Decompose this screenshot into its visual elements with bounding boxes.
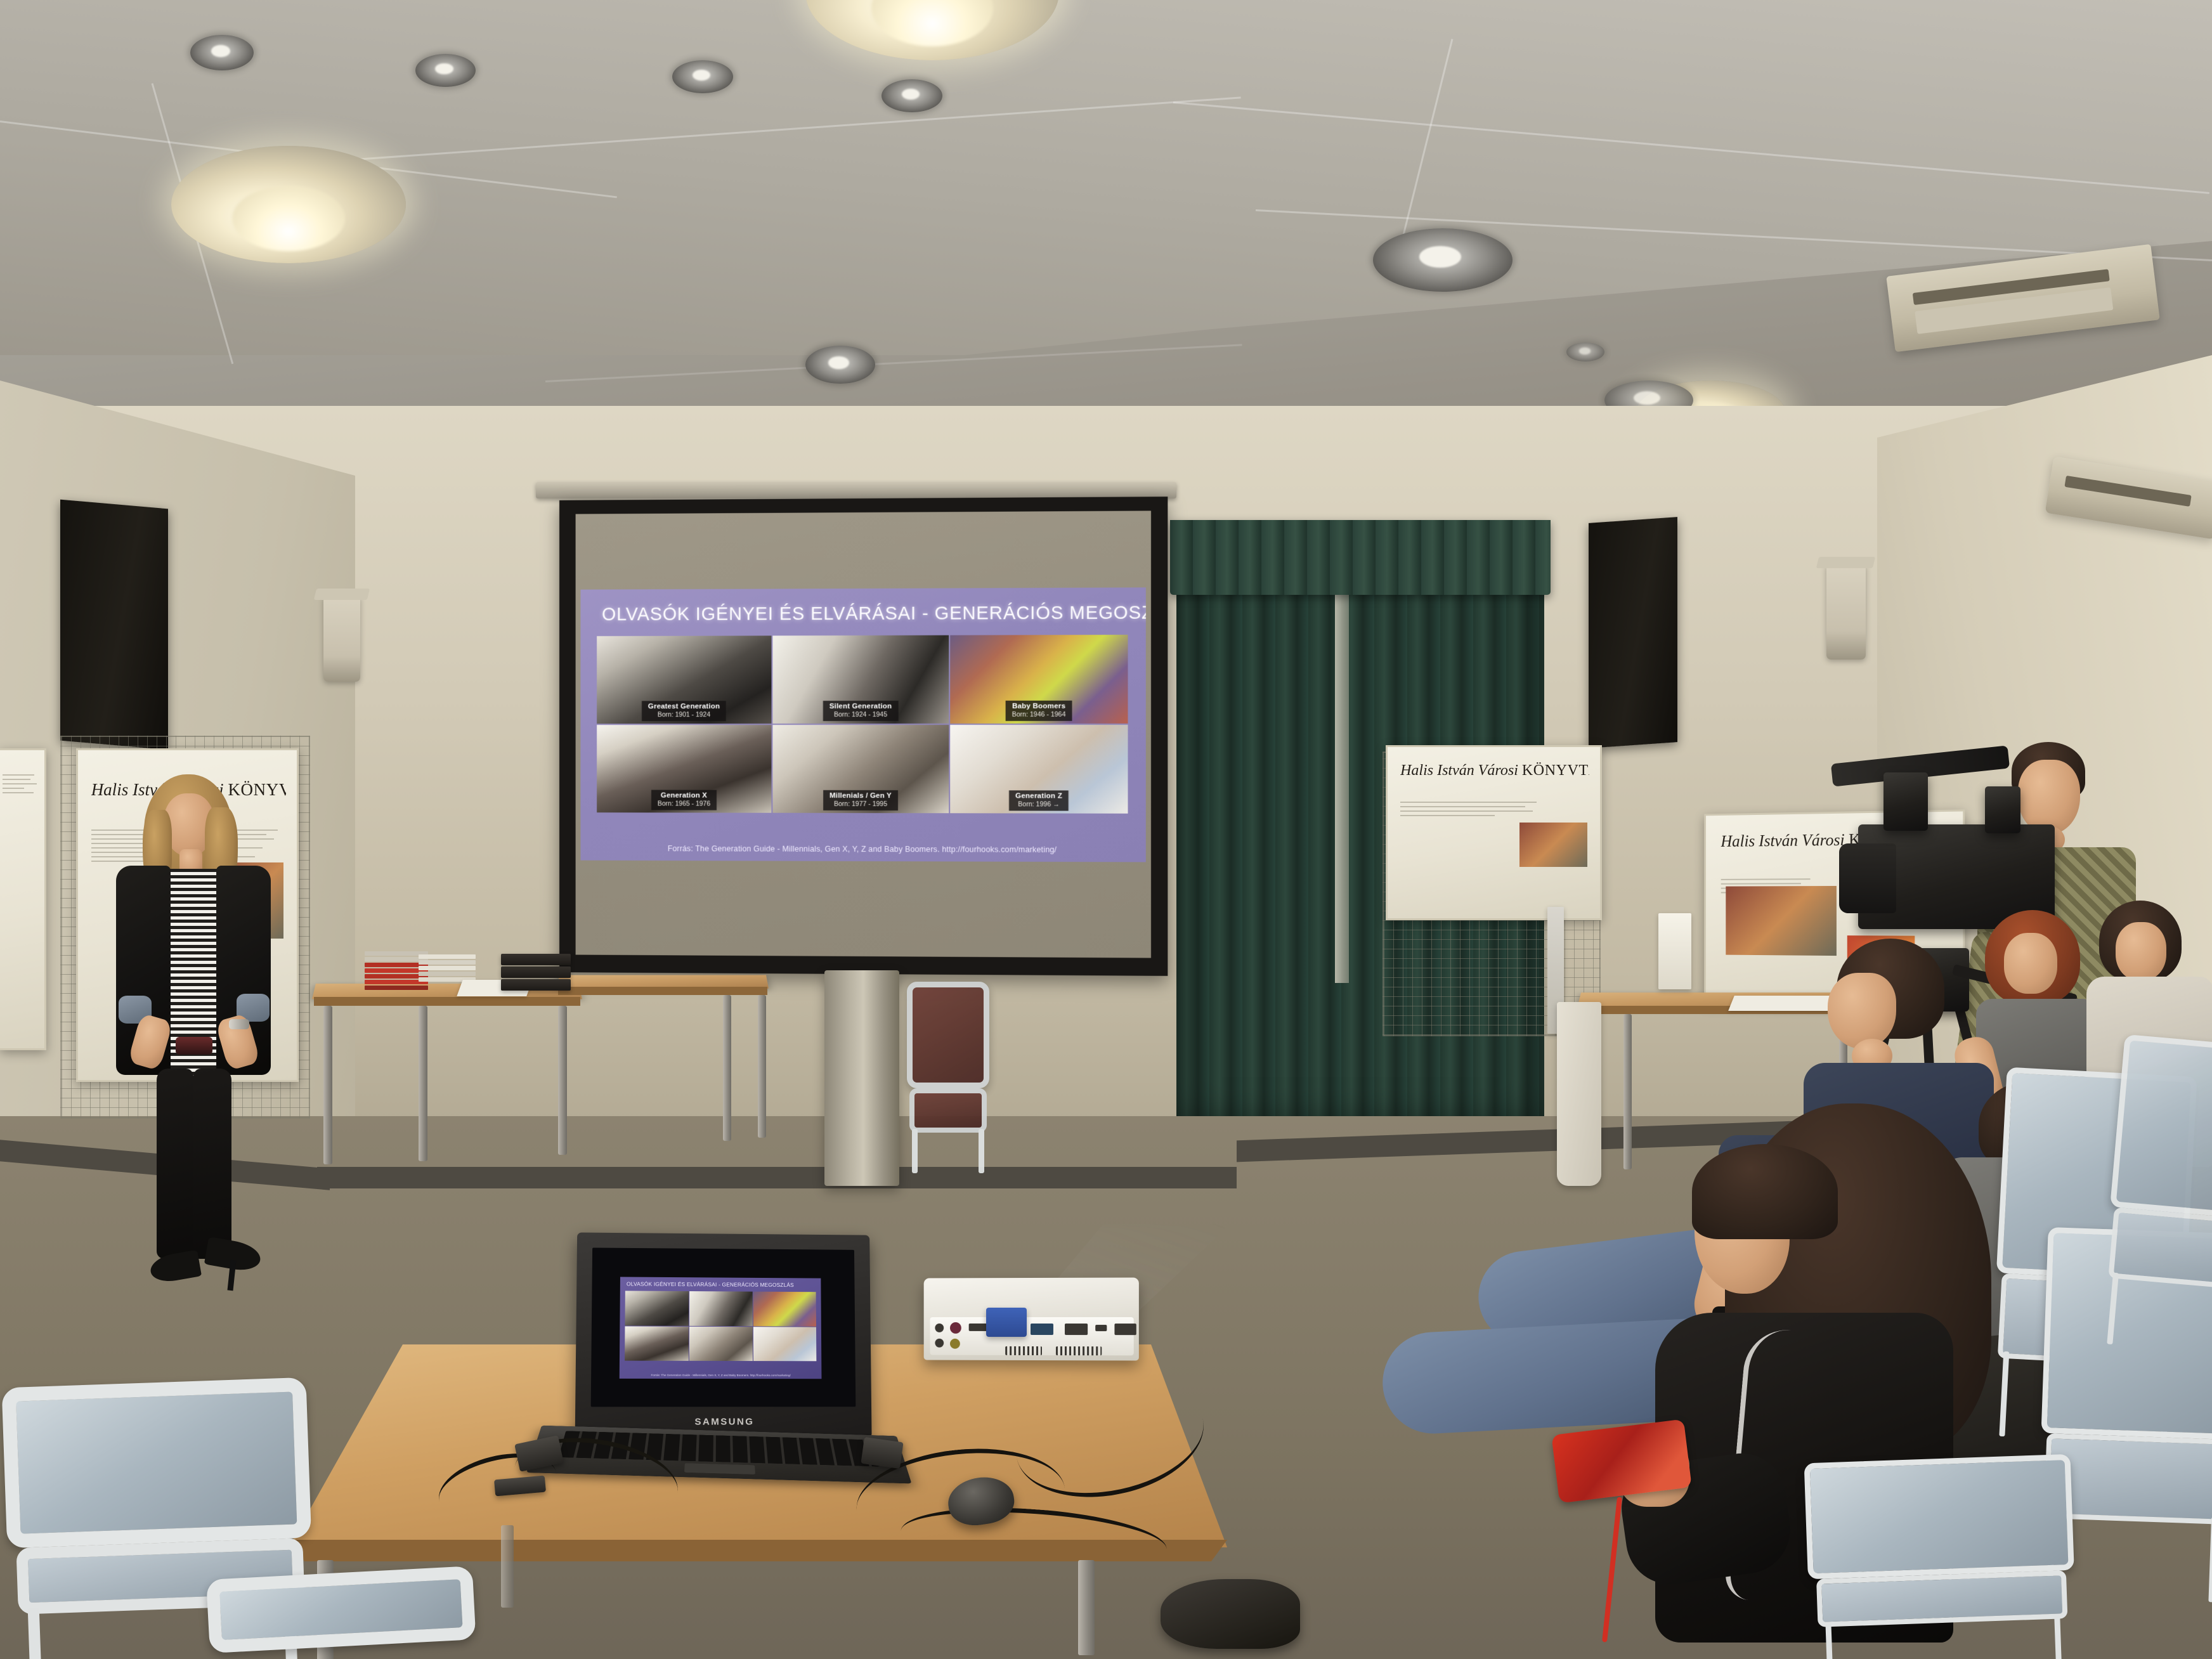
generation-name: Greatest Generation — [648, 703, 720, 710]
ceiling-spotlight — [805, 346, 875, 384]
presenter-woman — [105, 771, 282, 1313]
generation-born: Born: 1901 - 1924 — [648, 711, 720, 719]
laptop-lid: OLVASÓK IGÉNYEI ÉS ELVÁRÁSAI - GENERÁCIÓ… — [575, 1232, 872, 1436]
presenter-wristwatch — [229, 1019, 249, 1029]
vga-cable-plug[interactable] — [986, 1308, 1027, 1337]
curtain-gap — [1335, 590, 1349, 983]
operator-face — [2018, 760, 2080, 835]
table-leg — [558, 1006, 567, 1155]
poster-right-title-italic: Halis István Városi — [1721, 831, 1844, 850]
curtain-valance — [1170, 520, 1551, 595]
poster-back-title-caps: KÖNYVTÁR — [1522, 762, 1589, 779]
stacked-chair[interactable] — [907, 982, 989, 1166]
generation-label: Generation X Born: 1965 - 1976 — [651, 790, 717, 810]
table-leg — [1078, 1560, 1095, 1655]
camera-lens — [1839, 843, 1896, 913]
leaflet-stand — [1658, 913, 1691, 989]
poster-far-left-edge — [0, 748, 46, 1050]
generation-name: Baby Boomers — [1012, 703, 1066, 710]
audience-face — [1828, 973, 1896, 1049]
generation-born: Born: 1924 - 1945 — [829, 711, 892, 719]
laptop-slide-source: Forrás: The Generation Guide - Millennia… — [620, 1374, 822, 1377]
wall-sconce-left — [323, 596, 360, 682]
generation-cell: Millenials / Gen Y Born: 1977 - 1995 — [772, 725, 949, 813]
phone-lanyard-cord — [1602, 1497, 1622, 1643]
ceiling-spotlight — [415, 54, 476, 87]
presenter-trouser-left — [157, 1069, 193, 1259]
table-leg — [501, 1525, 514, 1608]
laptop-brand-logo: SAMSUNG — [575, 1416, 872, 1428]
ceiling-spotlight — [672, 60, 733, 93]
audience-hair-front — [1692, 1144, 1838, 1239]
generation-cell: Baby Boomers Born: 1946 - 1964 — [950, 635, 1128, 724]
laptop-mirrored-slide: OLVASÓK IGÉNYEI ÉS ELVÁRÁSAI - GENERÁCIÓ… — [620, 1277, 822, 1379]
empty-chair-foreground-2[interactable] — [206, 1566, 479, 1659]
generation-image-grid: Greatest Generation Born: 1901 - 1924 Si… — [597, 635, 1128, 814]
generation-name: Millenials / Gen Y — [829, 792, 892, 800]
ceiling-spotlight — [1566, 342, 1604, 361]
wall-speaker-right — [1589, 517, 1677, 748]
generation-label: Millenials / Gen Y Born: 1977 - 1995 — [823, 790, 898, 810]
audience-sneaker — [1161, 1579, 1300, 1649]
projector-port-panel — [930, 1317, 1133, 1355]
generation-cell: Generation X Born: 1965 - 1976 — [597, 725, 771, 813]
generation-label: Greatest Generation Born: 1901 - 1924 — [642, 701, 726, 721]
laptop-touchpad[interactable] — [684, 1463, 755, 1474]
audience-face — [2004, 933, 2057, 994]
audience-chair-front[interactable] — [1804, 1454, 2078, 1659]
table-leg — [323, 1006, 332, 1164]
binder — [501, 979, 571, 991]
generation-label: Silent Generation Born: 1924 - 1945 — [823, 701, 899, 721]
presentation-clicker[interactable] — [176, 1037, 212, 1055]
ceiling-spotlight — [1373, 228, 1513, 292]
binder — [501, 966, 571, 978]
presenter-shoe-left — [148, 1250, 202, 1285]
generation-name: Silent Generation — [829, 703, 892, 710]
poster-back-title-italic: Halis István Városi — [1400, 762, 1518, 779]
table-leg — [723, 995, 731, 1141]
projection-screen-surface: OLVASÓK IGÉNYEI ÉS ELVÁRÁSAI - GENERÁCIÓ… — [576, 511, 1151, 958]
wall-speaker-left — [60, 500, 168, 750]
table-leg — [758, 995, 766, 1138]
side-table-right-edge — [558, 987, 767, 995]
audience-face — [2116, 922, 2166, 980]
generation-name: Generation X — [658, 792, 710, 800]
presentation-room-photo: Halis István Városi KÖNYVTÁR Halis Istvá… — [0, 0, 2212, 1659]
generation-label: Baby Boomers Born: 1946 - 1964 — [1006, 701, 1072, 721]
binder — [501, 954, 571, 965]
room-column — [824, 970, 899, 1186]
generation-born: Born: 1946 - 1964 — [1012, 711, 1066, 719]
slide-source-credit: Forrás: The Generation Guide - Millennia… — [580, 844, 1145, 855]
laptop-slide-grid — [625, 1291, 816, 1361]
projection-screen: OLVASÓK IGÉNYEI ÉS ELVÁRÁSAI - GENERÁCIÓ… — [559, 497, 1168, 976]
laptop-slide-title: OLVASÓK IGÉNYEI ÉS ELVÁRÁSAI - GENERÁCIÓ… — [627, 1281, 817, 1289]
laptop-display[interactable]: OLVASÓK IGÉNYEI ÉS ELVÁRÁSAI - GENERÁCIÓ… — [591, 1247, 856, 1407]
camera-mic-mount — [1883, 772, 1928, 831]
baseboard — [317, 1167, 1237, 1188]
generation-cell: Silent Generation Born: 1924 - 1945 — [772, 635, 949, 724]
table-leg — [419, 1006, 427, 1161]
camera-handle — [1985, 786, 2020, 833]
generation-born: Born: 1965 - 1976 — [658, 800, 710, 807]
generation-label: Generation Z Born: 1996 → — [1009, 790, 1069, 810]
generation-cell: Greatest Generation Born: 1901 - 1924 — [597, 635, 771, 724]
projection-screen-housing — [536, 482, 1176, 498]
poster-back: Halis István Városi KÖNYVTÁR — [1386, 745, 1602, 920]
ceiling-spotlight — [882, 79, 942, 112]
wall-sconce-right — [1826, 564, 1866, 660]
projected-slide: OLVASÓK IGÉNYEI ÉS ELVÁRÁSAI - GENERÁCIÓ… — [580, 587, 1145, 862]
ceiling-spotlight — [190, 35, 254, 70]
projector — [924, 1278, 1139, 1361]
slide-title: OLVASÓK IGÉNYEI ÉS ELVÁRÁSAI - GENERÁCIÓ… — [602, 603, 1128, 626]
ceiling-downlight — [171, 146, 406, 263]
generation-born: Born: 1977 - 1995 — [829, 800, 892, 808]
generation-born: Born: 1996 → — [1015, 800, 1062, 808]
generation-name: Generation Z — [1015, 792, 1062, 800]
presenter-trouser-right — [193, 1069, 231, 1259]
generation-cell: Generation Z Born: 1996 → — [950, 725, 1128, 814]
book-stack-white — [419, 954, 476, 983]
usb-adapter[interactable] — [861, 1437, 903, 1469]
side-table-left-edge — [314, 997, 580, 1006]
